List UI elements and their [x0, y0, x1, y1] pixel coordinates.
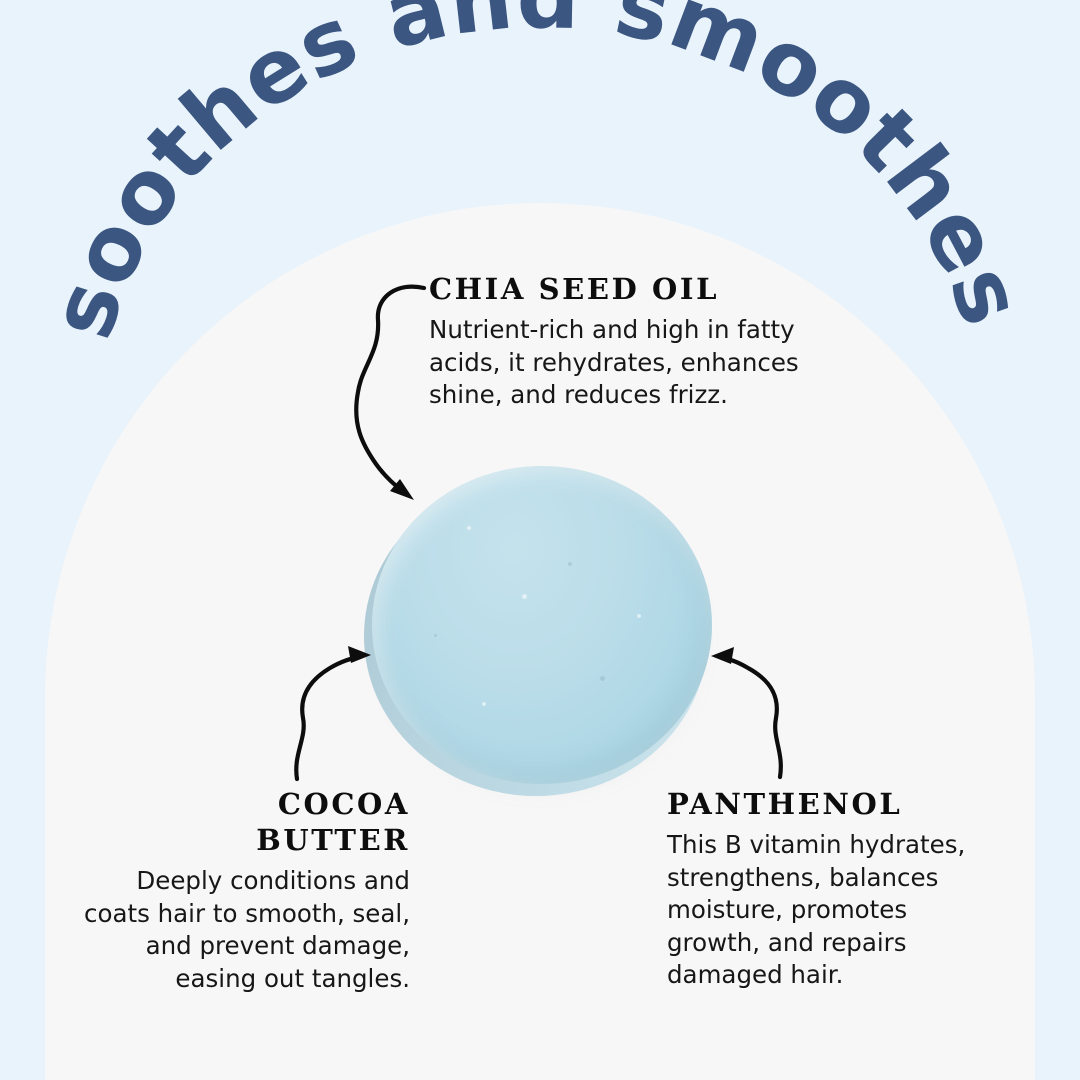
- bar-texture-speck: [637, 614, 641, 618]
- product-infographic: soothes and smoothes: [0, 0, 1080, 1080]
- ingredient-body-chia-seed-oil: Nutrient-rich and high in fatty acids, i…: [429, 314, 809, 412]
- ingredient-body-cocoa-butter: Deeply conditions and coats hair to smoo…: [78, 865, 410, 995]
- bar-texture-speck: [482, 702, 486, 706]
- bar-texture-speck: [600, 676, 605, 681]
- ingredient-title-chia-seed-oil: CHIA SEED OIL: [429, 271, 809, 307]
- ingredient-block-cocoa-butter: COCOA BUTTER Deeply conditions and coats…: [78, 786, 410, 995]
- bar-texture-speck: [568, 562, 572, 566]
- ingredient-title-cocoa-butter: COCOA BUTTER: [78, 786, 410, 858]
- shampoo-bar: [362, 462, 718, 807]
- ingredient-block-chia-seed-oil: CHIA SEED OIL Nutrient-rich and high in …: [429, 271, 809, 412]
- bar-texture-speck: [434, 634, 437, 637]
- bar-top-face: [372, 466, 712, 784]
- ingredient-title-panthenol: PANTHENOL: [667, 786, 987, 822]
- bar-texture-speck: [467, 526, 471, 530]
- ingredient-body-panthenol: This B vitamin hydrates, strengthens, ba…: [667, 829, 987, 992]
- bar-texture-speck: [522, 594, 527, 599]
- ingredient-block-panthenol: PANTHENOL This B vitamin hydrates, stren…: [667, 786, 987, 992]
